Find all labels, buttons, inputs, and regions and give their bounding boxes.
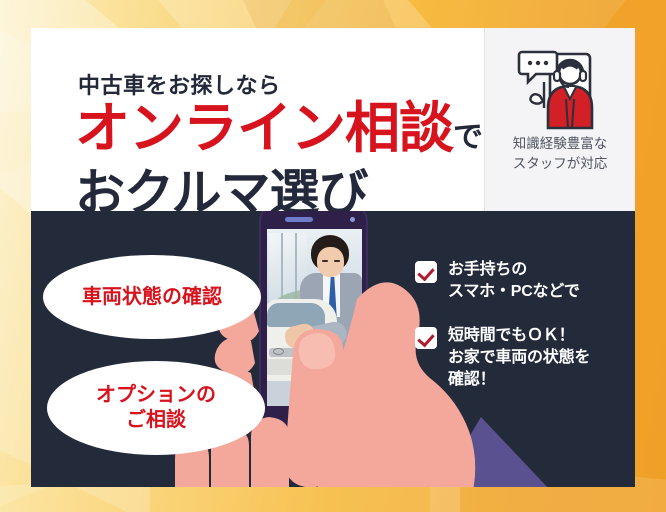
banner-root: 中古車をお探しなら オンライン相談で おクルマ選び (0, 0, 666, 512)
feature-bubble: オプションの ご相談 (47, 361, 265, 455)
headline-block: 中古車をお探しなら オンライン相談で おクルマ選び (31, 28, 484, 211)
header-card: 中古車をお探しなら オンライン相談で おクルマ選び (31, 28, 635, 211)
page-title: オンライン相談で (75, 101, 482, 156)
side-panel-caption-line1: 知識経験豊富な (513, 134, 608, 154)
check-icon (415, 261, 437, 283)
checklist-item-text: お手持ちの スマホ・PCなどで (448, 259, 580, 303)
checklist: お手持ちの スマホ・PCなどで 短時間でもＯＫ！ お家で車両の状態を 確認！ (415, 259, 630, 413)
headline-main-suffix: で (453, 121, 482, 154)
checklist-item: お手持ちの スマホ・PCなどで (415, 259, 630, 303)
headline-main-red: オンライン相談 (75, 97, 453, 159)
feature-bubble: 車両状態の確認 (43, 255, 261, 339)
fingernail (299, 333, 335, 369)
feature-bubble-text: オプションの ご相談 (96, 383, 216, 433)
phone-camera-icon (350, 217, 355, 222)
phone-speaker-icon (285, 217, 313, 222)
finger (251, 417, 289, 487)
side-panel-caption-line2: スタッフが対応 (513, 154, 608, 174)
side-panel: 知識経験豊富な スタッフが対応 (484, 28, 635, 211)
check-icon (415, 327, 437, 349)
checklist-item: 短時間でもＯＫ！ お家で車両の状態を 確認！ (415, 325, 630, 391)
feature-panel: 車両状態の確認 オプションの ご相談 お手持ちの スマホ・PCなどで 短時間でも… (31, 211, 635, 487)
checklist-item-text: 短時間でもＯＫ！ お家で車両の状態を 確認！ (448, 325, 590, 391)
kicker-text: 中古車をお探しなら (78, 68, 281, 100)
side-panel-caption: 知識経験豊富な スタッフが対応 (513, 134, 608, 175)
feature-bubble-text: 車両状態の確認 (82, 285, 222, 310)
knuckle (215, 337, 255, 374)
headset-staff-icon (514, 42, 606, 130)
